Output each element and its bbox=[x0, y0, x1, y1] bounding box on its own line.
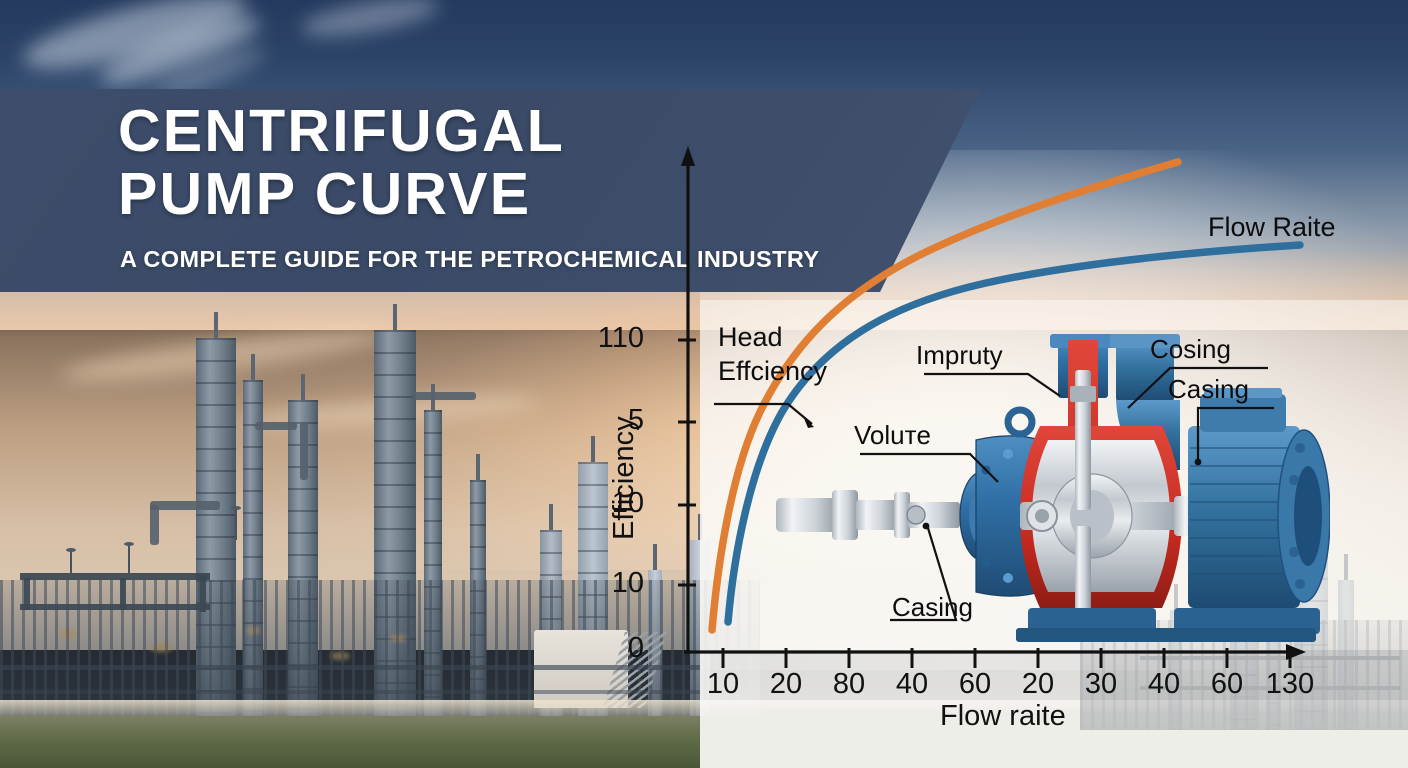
y-axis-title: Efficiency bbox=[608, 416, 641, 540]
leader-impruty bbox=[924, 374, 1060, 396]
pump-cutaway-illustration: Impruty Voluтe Cosing Casing Casing bbox=[770, 330, 1330, 660]
x-tick-5: 20 bbox=[1003, 668, 1073, 701]
x-tick-2: 80 bbox=[814, 668, 884, 701]
annotation-impruty: Impruty bbox=[916, 340, 1003, 371]
annotation-volute: Voluтe bbox=[854, 420, 931, 451]
x-tick-7: 40 bbox=[1129, 668, 1199, 701]
annotation-casing-bottom: Casing bbox=[892, 592, 973, 623]
x-tick-6: 30 bbox=[1066, 668, 1136, 701]
x-tick-3: 40 bbox=[877, 668, 947, 701]
annotation-casing-right: Casing bbox=[1168, 374, 1249, 405]
y-tick-0: 110 bbox=[574, 322, 644, 355]
y-axis bbox=[678, 146, 696, 652]
annotation-cosing: Cosing bbox=[1150, 334, 1231, 365]
infographic-canvas: CENTRIFUGAL PUMP CURVE A COMPLETE GUIDE … bbox=[0, 0, 1408, 768]
title-line-1: CENTRIFUGAL bbox=[118, 98, 565, 164]
x-tick-8: 60 bbox=[1192, 668, 1262, 701]
x-tick-1: 20 bbox=[751, 668, 821, 701]
suction-shaft bbox=[776, 490, 960, 540]
x-tick-9: 130 bbox=[1255, 668, 1325, 701]
x-tick-0: 10 bbox=[688, 668, 758, 701]
x-tick-4: 60 bbox=[940, 668, 1010, 701]
x-axis-title: Flow raite bbox=[940, 700, 1066, 733]
y-tick-3: 10 bbox=[574, 567, 644, 600]
annotation-flow-raite: Flow Raite bbox=[1208, 212, 1336, 243]
y-tick-4: 0 bbox=[574, 632, 644, 665]
